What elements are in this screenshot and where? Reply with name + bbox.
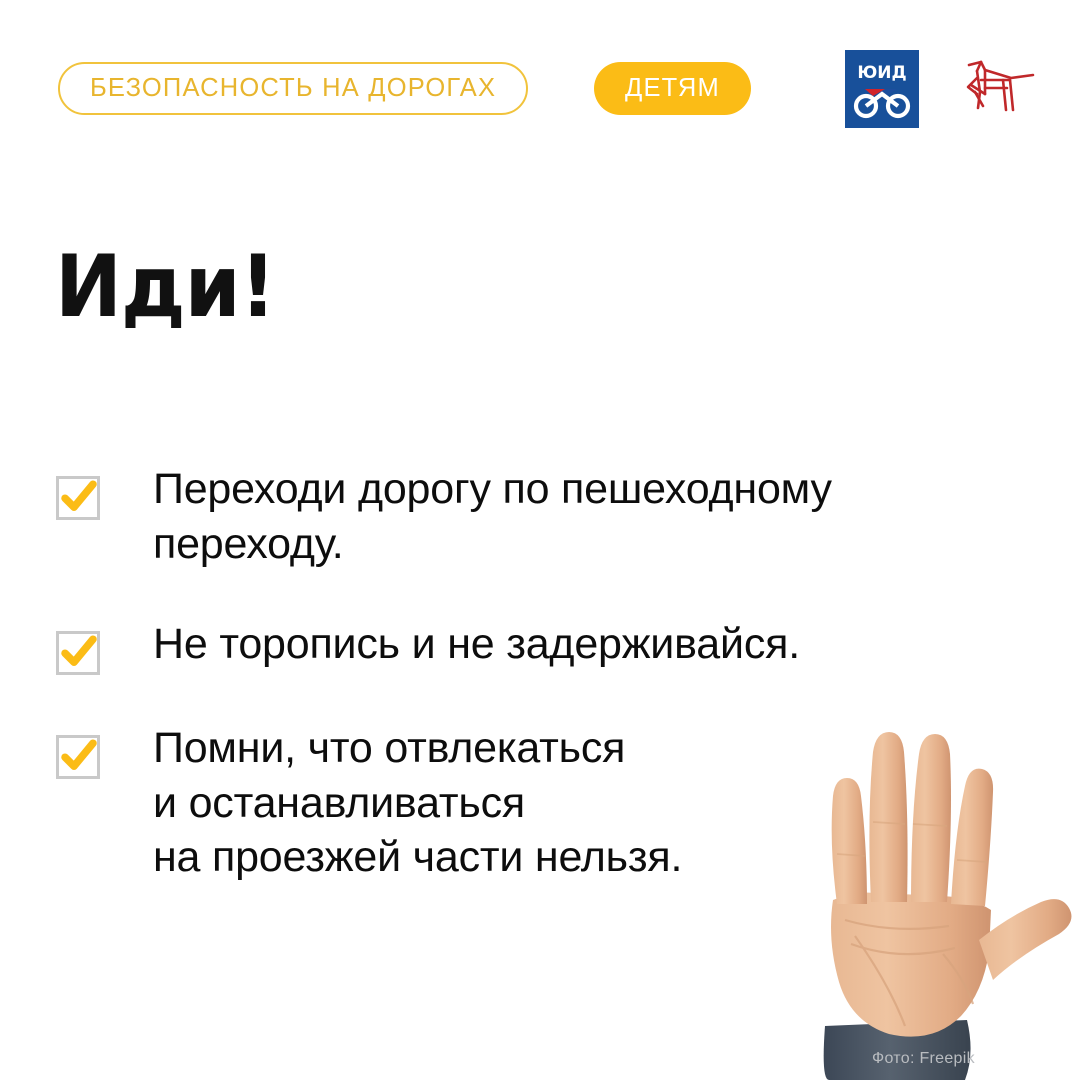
checklist-item: Помни, что отвлекаться и останавливаться… [56, 721, 1036, 885]
checklist-item-text: Помни, что отвлекаться и останавливаться… [153, 721, 682, 885]
page-title: Иди! [55, 244, 275, 330]
checkmark-icon [56, 735, 100, 779]
campaign-pill[interactable]: БЕЗОПАСНОСТЬ НА ДОРОГАХ [58, 62, 528, 115]
checklist: Переходи дорогу по пешеходному переходу.… [56, 462, 1036, 885]
poster-root: БЕЗОПАСНОСТЬ НА ДОРОГАХ ДЕТЯМ ЮИД [0, 0, 1080, 1080]
svg-text:ЮИД: ЮИД [857, 63, 906, 83]
checklist-item-text: Не торопись и не задерживайся. [153, 617, 800, 672]
checkmark-icon [56, 476, 100, 520]
checklist-item: Не торопись и не задерживайся. [56, 617, 1036, 675]
checklist-item-text: Переходи дорогу по пешеходному переходу. [153, 462, 832, 571]
red-figure-logo[interactable] [963, 48, 1043, 128]
photo-credit: Фото: Freepik [872, 1050, 975, 1068]
uid-logo[interactable]: ЮИД [845, 50, 919, 128]
header: БЕЗОПАСНОСТЬ НА ДОРОГАХ ДЕТЯМ ЮИД [0, 0, 1080, 170]
audience-pill[interactable]: ДЕТЯМ [594, 62, 751, 115]
checkmark-icon [56, 631, 100, 675]
checklist-item: Переходи дорогу по пешеходному переходу. [56, 462, 1036, 571]
